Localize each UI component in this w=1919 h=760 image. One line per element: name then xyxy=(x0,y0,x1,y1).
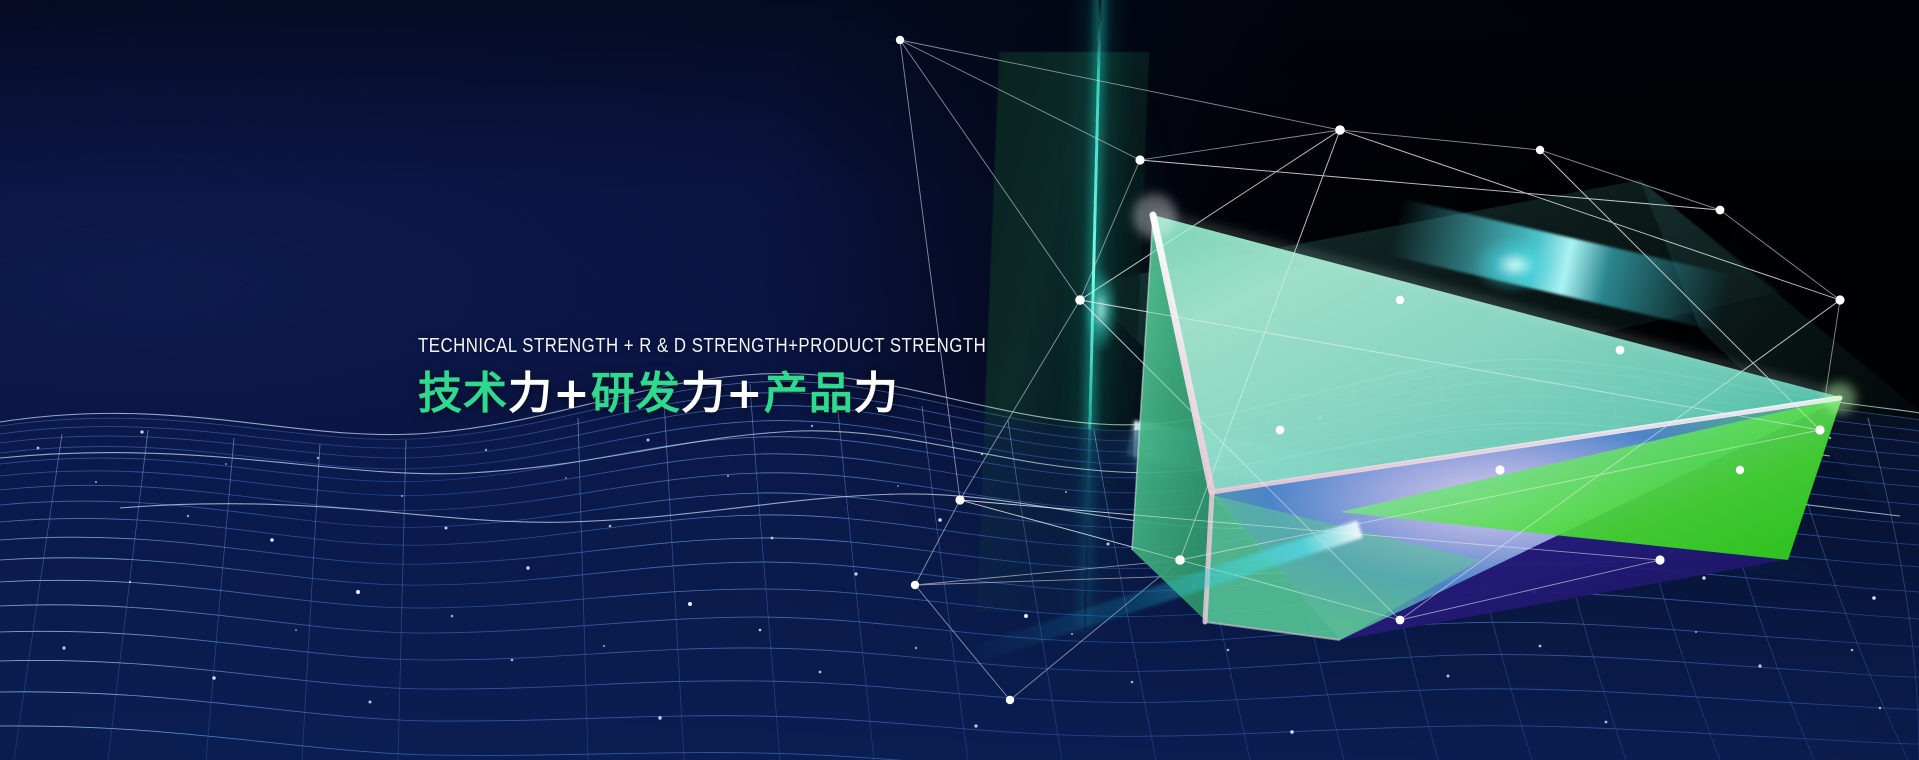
title-seg-1: 技术 xyxy=(418,368,508,419)
title-seg-8: 力 xyxy=(854,368,899,419)
title-seg-4: 研发 xyxy=(591,368,681,419)
title-seg-2: 力 xyxy=(508,368,553,419)
page-title: 技术力+研发力+产品力 xyxy=(418,370,1058,418)
title-seg-5: 力 xyxy=(681,368,726,419)
title-seg-6: + xyxy=(726,368,764,419)
hero-banner: TECHNICAL STRENGTH + R & D STRENGTH+PROD… xyxy=(0,0,1919,760)
title-seg-7: 产品 xyxy=(764,368,854,419)
eyebrow-text: TECHNICAL STRENGTH + R & D STRENGTH+PROD… xyxy=(418,336,943,357)
headline-block: TECHNICAL STRENGTH + R & D STRENGTH+PROD… xyxy=(418,336,1058,417)
title-seg-3: + xyxy=(553,368,591,419)
